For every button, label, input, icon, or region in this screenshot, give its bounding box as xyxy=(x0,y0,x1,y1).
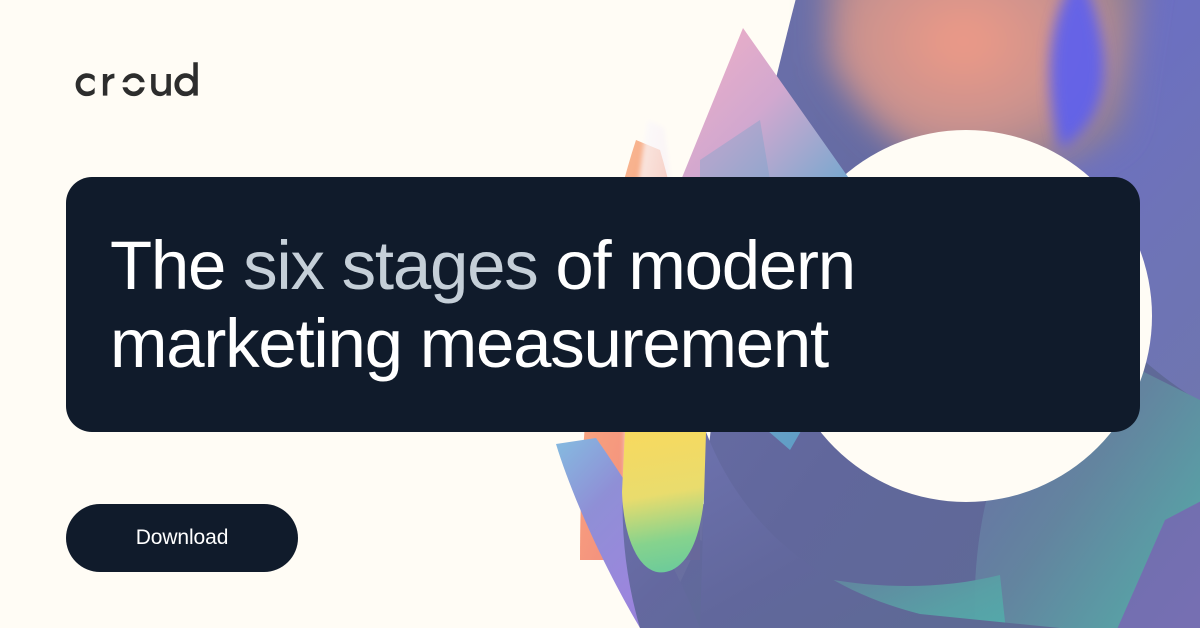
headline-part-1: The xyxy=(110,227,243,304)
croud-wordmark-icon xyxy=(66,62,218,108)
page-title: The six stages of modern marketing measu… xyxy=(110,227,1096,383)
headline-accent: six stages xyxy=(243,227,537,304)
download-button[interactable]: Download xyxy=(66,504,298,572)
download-button-label: Download xyxy=(136,526,229,550)
headline-panel: The six stages of modern marketing measu… xyxy=(66,177,1140,432)
creative-banner: The six stages of modern marketing measu… xyxy=(0,0,1200,628)
croud-logo[interactable] xyxy=(66,62,218,108)
